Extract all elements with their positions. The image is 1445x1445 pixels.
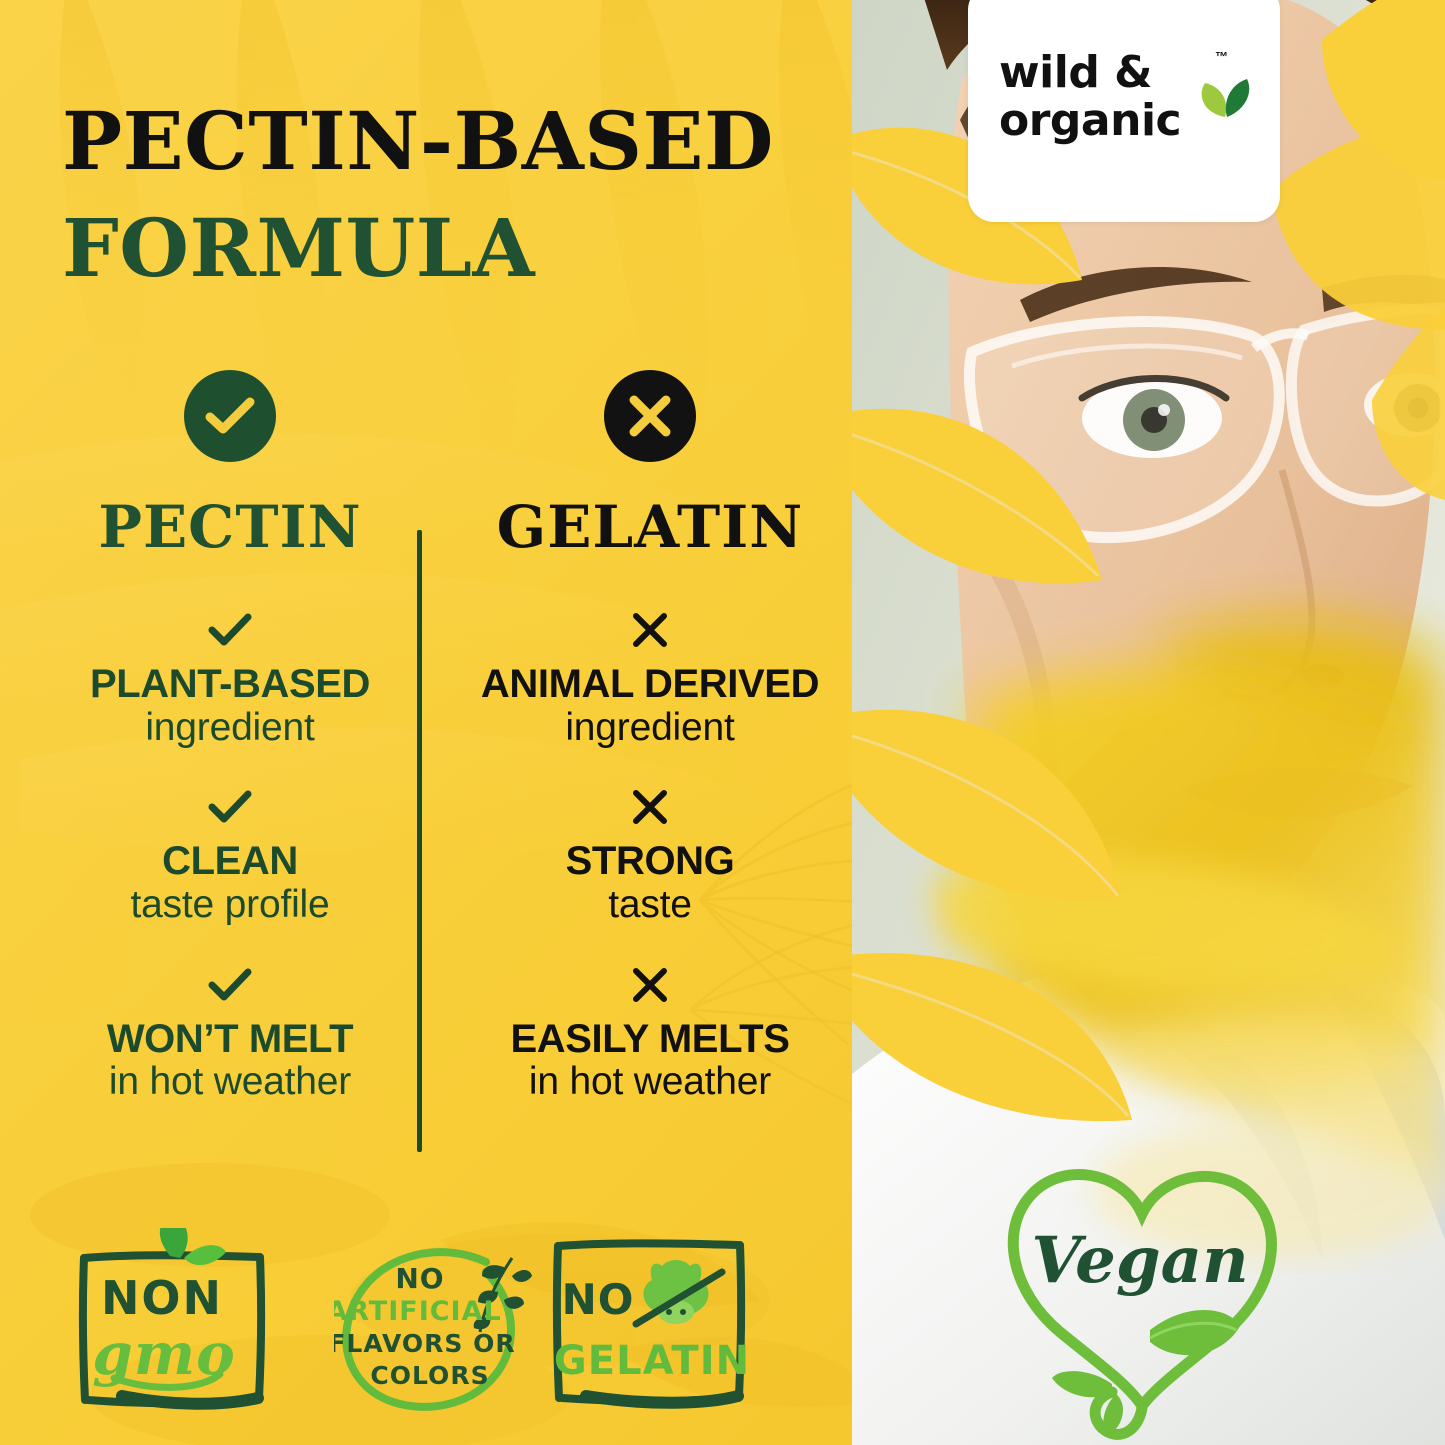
svg-text:NO: NO — [562, 1275, 635, 1324]
seal-non-gmo: NON gmo — [62, 1228, 312, 1423]
svg-text:NO: NO — [395, 1262, 444, 1295]
leaf-icon — [1052, 1310, 1240, 1436]
cross-icon — [460, 963, 840, 1007]
svg-text:GELATIN: GELATIN — [554, 1338, 750, 1384]
brand-logo-line2: organic — [999, 99, 1181, 143]
comparison-column-title: GELATIN — [460, 498, 840, 556]
vegan-badge: Vegan — [990, 1160, 1300, 1440]
svg-text:ARTIFICIAL: ARTIFICIAL — [334, 1296, 502, 1327]
list-item: WON’T MELT in hot weather — [40, 963, 420, 1104]
list-item: ANIMAL DERIVED ingredient — [460, 608, 840, 749]
check-icon — [184, 370, 276, 462]
list-item-subtitle: ingredient — [40, 706, 420, 750]
check-icon — [40, 963, 420, 1007]
list-item: STRONG taste — [460, 785, 840, 926]
headline-line2: FORMULA — [62, 195, 942, 302]
list-item-subtitle: in hot weather — [460, 1060, 840, 1104]
check-icon — [40, 785, 420, 829]
svg-text:COLORS: COLORS — [370, 1361, 489, 1390]
brand-logo-line1: wild & — [999, 51, 1152, 95]
list-item-subtitle: taste profile — [40, 883, 420, 927]
marketing-infographic: wild & organic ™ PECTIN-BASED FORMULA — [0, 0, 1445, 1445]
cross-icon — [460, 785, 840, 829]
list-item-subtitle: taste — [460, 883, 840, 927]
seal-no-artificial-flavors-or-colors: NO ARTIFICIAL FLAVORS OR COLORS — [334, 1234, 534, 1419]
comparison-column-pectin: PECTIN PLANT-BASED ingredient — [40, 370, 420, 1140]
svg-text:FLAVORS OR: FLAVORS OR — [334, 1329, 516, 1358]
svg-text:NON: NON — [101, 1271, 223, 1325]
vegan-label: Vegan — [1031, 1223, 1248, 1298]
list-item: CLEAN taste profile — [40, 785, 420, 926]
list-item-title: CLEAN — [40, 841, 420, 883]
list-item-title: ANIMAL DERIVED — [460, 664, 840, 706]
check-icon — [40, 608, 420, 652]
list-item-subtitle: ingredient — [460, 706, 840, 750]
list-item: EASILY MELTS in hot weather — [460, 963, 840, 1104]
crossed-out-cow-icon — [636, 1260, 722, 1324]
trust-seal-row: NON gmo NO ARTIFI — [46, 1228, 806, 1428]
cross-icon — [460, 608, 840, 652]
comparison-column-gelatin: GELATIN ANIMAL DERIVED ingredient — [460, 370, 840, 1140]
seal-no-gelatin: NO GELATIN — [540, 1228, 760, 1423]
cross-icon — [604, 370, 696, 462]
list-item-title: STRONG — [460, 841, 840, 883]
list-item: PLANT-BASED ingredient — [40, 608, 420, 749]
leaf-pair-icon — [160, 1228, 226, 1265]
list-item-title: EASILY MELTS — [460, 1019, 840, 1061]
list-item-subtitle: in hot weather — [40, 1060, 420, 1104]
list-item-title: WON’T MELT — [40, 1019, 420, 1061]
brand-logo-card[interactable]: wild & organic ™ — [968, 0, 1280, 222]
trademark-symbol: ™ — [1215, 49, 1228, 64]
leaf-pair-icon — [1195, 77, 1255, 126]
headline-line1: PECTIN-BASED — [62, 88, 942, 195]
comparison-column-title: PECTIN — [40, 498, 420, 556]
list-item-title: PLANT-BASED — [40, 664, 420, 706]
page-title: PECTIN-BASED FORMULA — [62, 88, 942, 302]
